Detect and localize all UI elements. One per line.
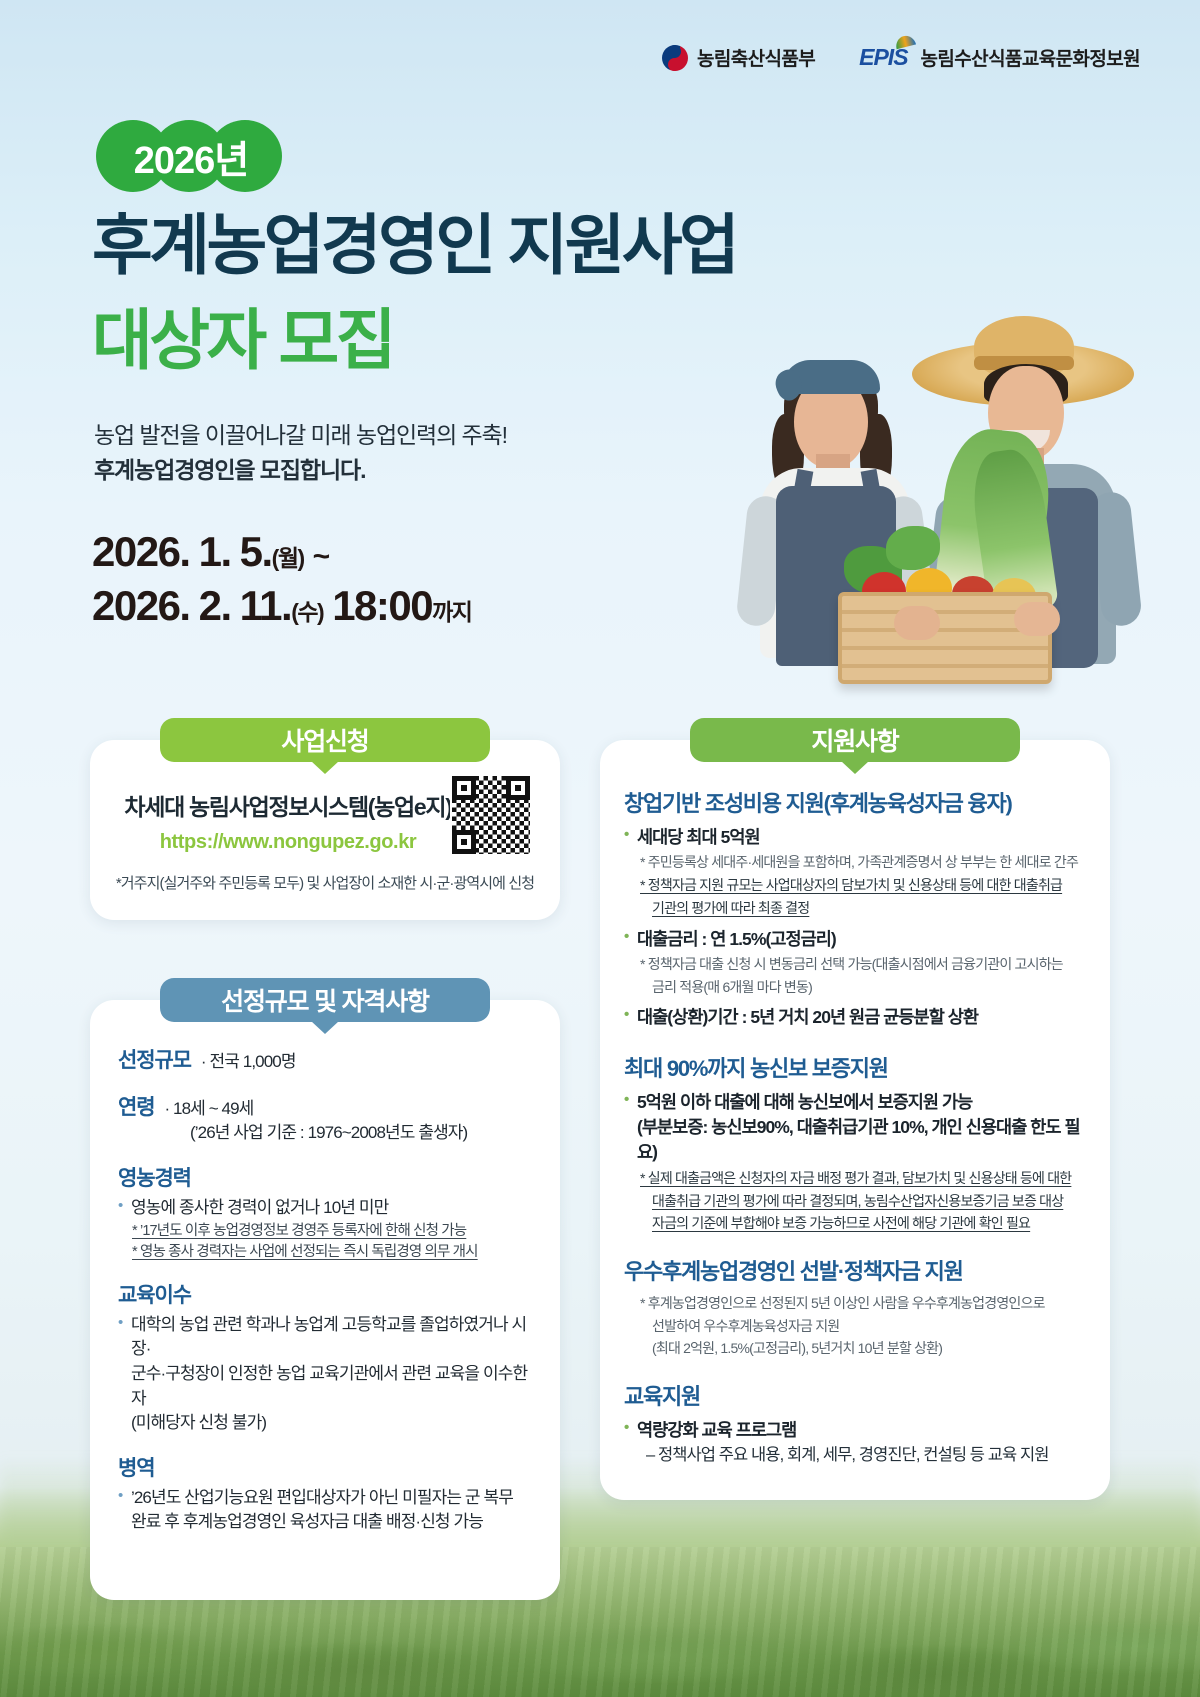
page-title-line2: 대상자 모집 bbox=[92, 305, 393, 376]
qr-eye-bl bbox=[452, 830, 476, 854]
date-end-month: 2. bbox=[199, 582, 231, 630]
date-start-weekday: (월) bbox=[272, 539, 304, 573]
epis-swoosh-icon bbox=[894, 34, 916, 50]
support-0-item-0-note-0: * 주민등록상 세대주·세대원을 포함하며, 가족관계증명서 상 부부는 한 세… bbox=[624, 852, 1088, 873]
apply-note: *거주지(실거주와 주민등록 모두) 및 사업장이 소재한 시·군·광역시에 신… bbox=[90, 872, 560, 893]
military-bullet-line2: 완료 후 후계농업경영인 육성자금 대출 배정·신청 가능 bbox=[118, 1510, 530, 1535]
qr-eye-tl bbox=[452, 776, 476, 800]
date-start-day: 5. bbox=[240, 528, 272, 576]
poster-root: 농림축산식품부 EPIS 농림수산식품교육문화정보원 2026년 후계농업경영인… bbox=[0, 0, 1200, 1697]
epis-mark-icon: EPIS bbox=[859, 44, 911, 71]
date-start-row: 2026. 1. 5. (월) ~ bbox=[92, 528, 471, 576]
support-section-guarantee: 최대 90%까지 농신보 보증지원 5억원 이하 대출에 대해 농신보에서 보증… bbox=[624, 1051, 1088, 1234]
date-end-time: 18:00 bbox=[332, 582, 432, 630]
support-section-2-heading: 우수후계농업경영인 선발·정책자금 지원 bbox=[624, 1254, 1088, 1286]
support-0-item-0-note-1: * 정책자금 지원 규모는 사업대상자의 담보가치 및 신용상태 등에 대한 대… bbox=[624, 875, 1088, 896]
header-logos: 농림축산식품부 EPIS 농림수산식품교육문화정보원 bbox=[662, 44, 1140, 71]
qr-code-icon[interactable] bbox=[450, 774, 532, 856]
support-1-item-0-note-1: 대출취급 기관의 평가에 따라 결정되며, 농림수산업자신용보증기금 보증 대상 bbox=[624, 1191, 1088, 1212]
support-0-item-0-note-2: 기관의 평가에 따라 최종 결정 bbox=[624, 898, 1088, 919]
man-hand bbox=[1014, 602, 1060, 636]
eligibility-body: 선정규모 · 전국 1,000명 연령 · 18세 ~ 49세 (’26년 사업… bbox=[90, 1000, 560, 1571]
date-end-suffix: 까지 bbox=[432, 593, 471, 627]
date-end-weekday: (수) bbox=[291, 593, 323, 627]
eligibility-card: 선정규모 및 자격사항 선정규모 · 전국 1,000명 연령 · 18세 ~ … bbox=[90, 1000, 560, 1600]
support-section-excellent: 우수후계농업경영인 선발·정책자금 지원 * 후계농업경영인으로 선정된지 5년… bbox=[624, 1254, 1088, 1359]
farming-career-note-1: * ’17년도 이후 농업경영정보 경영주 등록자에 한해 신청 가능 bbox=[118, 1221, 530, 1242]
support-1-item-0-note-2: 자금의 기준에 부합해야 보증 가능하므로 사전에 해당 기관에 확인 필요 bbox=[624, 1213, 1088, 1234]
support-ribbon: 지원사항 bbox=[690, 718, 1020, 762]
support-section-1-heading: 최대 90%까지 농신보 보증지원 bbox=[624, 1051, 1088, 1083]
apply-ribbon: 사업신청 bbox=[160, 718, 490, 762]
date-range-tilde: ~ bbox=[313, 540, 329, 574]
broccoli bbox=[886, 526, 940, 570]
farming-career-heading: 영농경력 bbox=[118, 1162, 530, 1192]
eligibility-age: 연령 · 18세 ~ 49세 (’26년 사업 기준 : 1976~2008년도… bbox=[118, 1091, 530, 1146]
support-0-item-1-bullet: 대출금리 : 연 1.5%(고정금리) bbox=[624, 927, 1088, 952]
education-bullet-line2: 군수·구청장이 인정한 농업 교육기관에서 관련 교육을 이수한 자 bbox=[118, 1362, 530, 1411]
farmers-photo bbox=[716, 310, 1146, 740]
eligibility-education: 교육이수 대학의 농업 관련 학과나 농업계 고등학교를 졸업하였거나 시장· … bbox=[118, 1279, 530, 1436]
support-section-startup: 창업기반 조성비용 지원(후계농육성자금 융자) 세대당 최대 5억원 * 주민… bbox=[624, 786, 1088, 1031]
eligibility-scale-heading: 선정규모 bbox=[118, 1044, 191, 1074]
year-badge: 2026년 bbox=[96, 120, 286, 192]
support-body: 창업기반 조성비용 지원(후계농육성자금 융자) 세대당 최대 5억원 * 주민… bbox=[600, 740, 1110, 1507]
education-heading: 교육이수 bbox=[118, 1279, 530, 1309]
military-bullet-line1: ’26년도 산업기능요원 편입대상자가 아닌 미필자는 군 복무 bbox=[118, 1486, 530, 1511]
support-0-item-1-note-1: 금리 적용(매 6개월 마다 변동) bbox=[624, 977, 1088, 998]
application-period: 2026. 1. 5. (월) ~ 2026. 2. 11. (수) 18:00… bbox=[92, 528, 471, 630]
support-section-3-heading: 교육지원 bbox=[624, 1379, 1088, 1411]
eligibility-age-value: · 18세 ~ 49세 bbox=[164, 1097, 253, 1122]
lead-text: 농업 발전을 이끌어나갈 미래 농업인력의 주축! 후계농업경영인을 모집합니다… bbox=[94, 418, 507, 487]
eligibility-scale: 선정규모 · 전국 1,000명 bbox=[118, 1044, 530, 1075]
support-card: 지원사항 창업기반 조성비용 지원(후계농육성자금 융자) 세대당 최대 5억원… bbox=[600, 740, 1110, 1500]
support-2-item-0-note-1: 선발하여 우수후계농육성자금 지원 bbox=[624, 1316, 1088, 1337]
page-title-line1: 후계농업경영인 지원사업 bbox=[92, 210, 736, 281]
support-2-item-0-note-0: * 후계농업경영인으로 선정된지 5년 이상인 사람을 우수후계농업경영인으로 bbox=[624, 1293, 1088, 1314]
eligibility-age-heading: 연령 bbox=[118, 1091, 154, 1121]
eligibility-military: 병역 ’26년도 산업기능요원 편입대상자가 아닌 미필자는 군 복무 완료 후… bbox=[118, 1452, 530, 1535]
military-heading: 병역 bbox=[118, 1452, 530, 1482]
epis-name: 농림수산식품교육문화정보원 bbox=[921, 44, 1140, 71]
support-3-item-0-dash: – 정책사업 주요 내용, 회계, 세무, 경영진단, 컨설팅 등 교육 지원 bbox=[624, 1444, 1088, 1468]
ministry-name: 농림축산식품부 bbox=[697, 44, 815, 71]
eligibility-farming-career: 영농경력 영농에 종사한 경력이 없거나 10년 미만 * ’17년도 이후 농… bbox=[118, 1162, 530, 1263]
lead-line2: 후계농업경영인을 모집합니다. bbox=[94, 453, 507, 488]
eligibility-scale-value: · 전국 1,000명 bbox=[201, 1050, 296, 1075]
apply-card: 사업신청 차세대 농림사업정보시스템(농업e지) https://www.non… bbox=[90, 740, 560, 920]
date-end-year: 2026. bbox=[92, 582, 190, 630]
support-3-item-0-bullet: 역량강화 교육 프로그램 bbox=[624, 1418, 1088, 1443]
date-start-month: 1. bbox=[199, 528, 231, 576]
education-bullet-line3: (미해당자 신청 불가) bbox=[118, 1411, 530, 1436]
farming-career-note-2: * 영농 종사 경력자는 사업에 선정되는 즉시 독립경영 의무 개시 bbox=[118, 1242, 530, 1263]
support-1-item-0-bullet: 5억원 이하 대출에 대해 농신보에서 보증지원 가능 bbox=[624, 1090, 1088, 1115]
support-section-0-heading: 창업기반 조성비용 지원(후계농육성자금 융자) bbox=[624, 786, 1088, 818]
farming-career-bullet: 영농에 종사한 경력이 없거나 10년 미만 bbox=[118, 1196, 530, 1221]
support-2-item-0-note-2: (최대 2억원, 1.5%(고정금리), 5년거치 10년 분할 상환) bbox=[624, 1338, 1088, 1359]
woman-hand bbox=[894, 606, 940, 640]
support-0-item-2-bullet: 대출(상환)기간 : 5년 거치 20년 원금 균등분할 상환 bbox=[624, 1005, 1088, 1030]
support-0-item-1-note-0: * 정책자금 대출 신청 시 변동금리 선택 가능(대출시점에서 금융기관이 고… bbox=[624, 954, 1088, 975]
date-end-row: 2026. 2. 11. (수) 18:00 까지 bbox=[92, 582, 471, 630]
date-end-day: 11. bbox=[240, 582, 292, 630]
eligibility-ribbon: 선정규모 및 자격사항 bbox=[160, 978, 490, 1022]
year-badge-label: 2026년 bbox=[134, 129, 249, 184]
eligibility-age-detail: (’26년 사업 기준 : 1976~2008년도 출생자) bbox=[118, 1121, 530, 1146]
support-0-item-0-bullet: 세대당 최대 5억원 bbox=[624, 825, 1088, 850]
lead-line1: 농업 발전을 이끌어나갈 미래 농업인력의 주축! bbox=[94, 418, 507, 453]
support-1-item-0-continuation: (부분보증: 농신보90%, 대출취급기관 10%, 개인 신용대출 한도 필요… bbox=[624, 1115, 1088, 1166]
taegeuk-icon bbox=[662, 45, 688, 71]
support-section-education: 교육지원 역량강화 교육 프로그램 – 정책사업 주요 내용, 회계, 세무, … bbox=[624, 1379, 1088, 1467]
ministry-logo: 농림축산식품부 bbox=[662, 44, 815, 71]
support-1-item-0-note-0: * 실제 대출금액은 신청자의 자금 배정 평가 결과, 담보가치 및 신용상태… bbox=[624, 1168, 1088, 1189]
education-bullet-line1: 대학의 농업 관련 학과나 농업계 고등학교를 졸업하였거나 시장· bbox=[118, 1313, 530, 1362]
epis-logo: EPIS 농림수산식품교육문화정보원 bbox=[859, 44, 1140, 71]
qr-eye-tr bbox=[506, 776, 530, 800]
date-start-year: 2026. bbox=[92, 528, 190, 576]
